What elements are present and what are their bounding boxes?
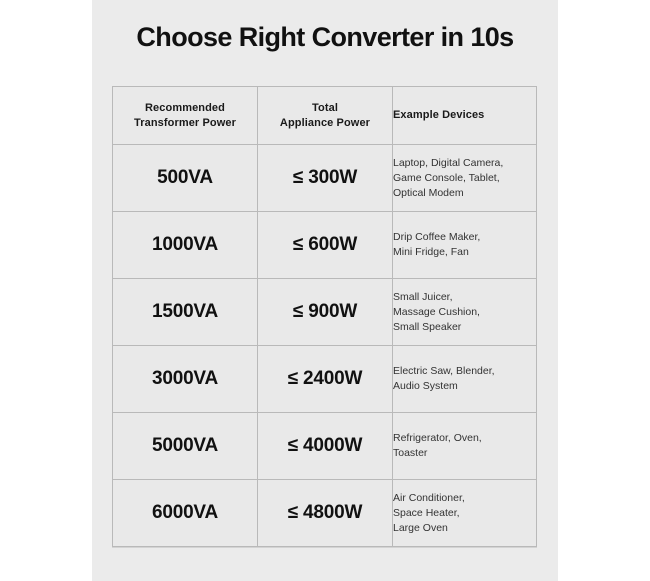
table-row: 500VA ≤ 300W Laptop, Digital Camera, Gam… xyxy=(113,145,537,212)
cell-example-devices: Electric Saw, Blender, Audio System xyxy=(393,346,537,413)
cell-example-devices: Air Conditioner, Space Heater, Large Ove… xyxy=(393,480,537,547)
device-line: Small Speaker xyxy=(393,320,536,335)
cell-example-devices: Small Juicer, Massage Cushion, Small Spe… xyxy=(393,279,537,346)
cell-appliance-power: ≤ 4800W xyxy=(258,480,393,547)
cell-appliance-power: ≤ 2400W xyxy=(258,346,393,413)
device-line: Game Console, Tablet, xyxy=(393,171,536,186)
device-line: Toaster xyxy=(393,446,536,461)
device-line: Mini Fridge, Fan xyxy=(393,245,536,260)
device-line: Air Conditioner, xyxy=(393,491,536,506)
infographic-panel: Choose Right Converter in 10s Recommende… xyxy=(92,0,558,581)
converter-sizing-table: Recommended Transformer Power Total Appl… xyxy=(112,86,537,547)
device-line: Massage Cushion, xyxy=(393,305,536,320)
column-header-appliance-power-line1: Total xyxy=(312,102,338,114)
cell-transformer-power: 1500VA xyxy=(113,279,258,346)
cell-transformer-power: 3000VA xyxy=(113,346,258,413)
device-line: Drip Coffee Maker, xyxy=(393,230,536,245)
column-header-transformer-power-line2: Transformer Power xyxy=(134,117,236,129)
device-line: Laptop, Digital Camera, xyxy=(393,156,536,171)
device-line: Electric Saw, Blender, xyxy=(393,364,536,379)
cell-appliance-power: ≤ 600W xyxy=(258,212,393,279)
table-header: Recommended Transformer Power Total Appl… xyxy=(113,87,537,145)
table-header-row: Recommended Transformer Power Total Appl… xyxy=(113,87,537,145)
device-line: Refrigerator, Oven, xyxy=(393,431,536,446)
device-line: Audio System xyxy=(393,379,536,394)
device-line: Small Juicer, xyxy=(393,290,536,305)
device-line: Space Heater, xyxy=(393,506,536,521)
column-header-transformer-power: Recommended Transformer Power xyxy=(113,87,258,145)
column-header-appliance-power: Total Appliance Power xyxy=(258,87,393,145)
table-row: 5000VA ≤ 4000W Refrigerator, Oven, Toast… xyxy=(113,413,537,480)
table-row: 1500VA ≤ 900W Small Juicer, Massage Cush… xyxy=(113,279,537,346)
device-line: Optical Modem xyxy=(393,186,536,201)
column-header-example-devices: Example Devices xyxy=(393,87,537,145)
cell-example-devices: Laptop, Digital Camera, Game Console, Ta… xyxy=(393,145,537,212)
table-row: 3000VA ≤ 2400W Electric Saw, Blender, Au… xyxy=(113,346,537,413)
column-header-transformer-power-line1: Recommended xyxy=(145,102,225,114)
cell-transformer-power: 5000VA xyxy=(113,413,258,480)
cell-transformer-power: 1000VA xyxy=(113,212,258,279)
table-row: 1000VA ≤ 600W Drip Coffee Maker, Mini Fr… xyxy=(113,212,537,279)
cell-appliance-power: ≤ 900W xyxy=(258,279,393,346)
cell-example-devices: Refrigerator, Oven, Toaster xyxy=(393,413,537,480)
cell-example-devices: Drip Coffee Maker, Mini Fridge, Fan xyxy=(393,212,537,279)
cell-transformer-power: 500VA xyxy=(113,145,258,212)
table-row: 6000VA ≤ 4800W Air Conditioner, Space He… xyxy=(113,480,537,547)
cell-transformer-power: 6000VA xyxy=(113,480,258,547)
page-title: Choose Right Converter in 10s xyxy=(92,20,558,54)
cell-appliance-power: ≤ 4000W xyxy=(258,413,393,480)
cell-appliance-power: ≤ 300W xyxy=(258,145,393,212)
column-header-appliance-power-line2: Appliance Power xyxy=(280,117,370,129)
table-body: 500VA ≤ 300W Laptop, Digital Camera, Gam… xyxy=(113,145,537,547)
device-line: Large Oven xyxy=(393,521,536,536)
